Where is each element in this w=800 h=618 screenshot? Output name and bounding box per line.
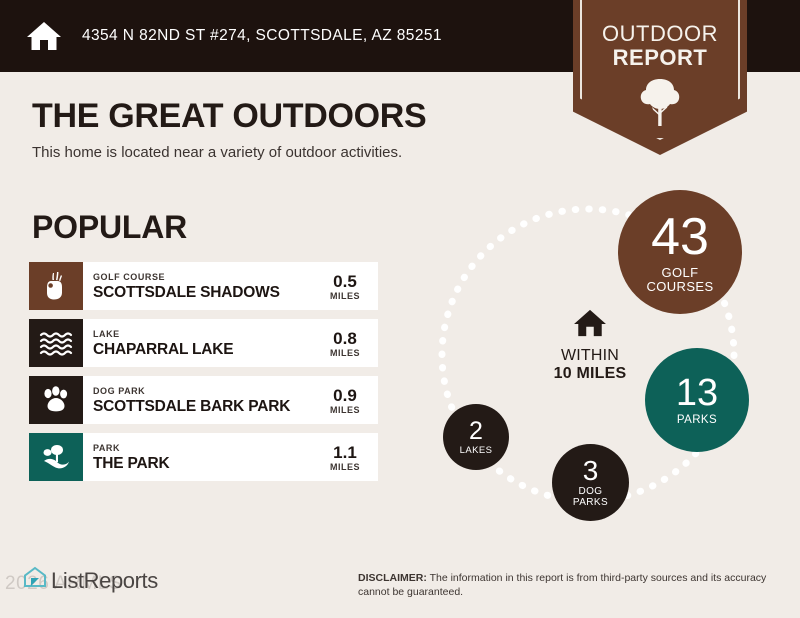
list-item-category: LAKE [93,328,316,340]
list-item[interactable]: GOLF COURSE SCOTTSDALE SHADOWS 0.5 MILES [29,262,378,310]
list-item[interactable]: LAKE CHAPARRAL LAKE 0.8 MILES [29,319,378,367]
list-item-category: PARK [93,442,316,454]
page-subtitle: This home is located near a variety of o… [32,144,402,161]
logo-text: ListReports [51,568,158,594]
page-title: THE GREAT OUTDOORS [32,97,426,136]
list-item-category: DOG PARK [93,385,316,397]
list-item-distance: 0.5 MILES [316,262,378,310]
bubble-count: 43 [651,211,709,263]
property-address: 4354 N 82ND ST #274, SCOTTSDALE, AZ 8525… [82,27,442,45]
list-item-text: LAKE CHAPARRAL LAKE [83,319,316,367]
distance-unit: MILES [330,462,360,472]
list-item-name: THE PARK [93,454,316,473]
tree-icon [573,76,747,133]
bubble-parks[interactable]: 13 PARKS [645,348,749,452]
list-item-distance: 1.1 MILES [316,433,378,481]
outdoor-report-badge: OUTDOOR REPORT [573,0,747,155]
list-item-text: DOG PARK SCOTTSDALE BARK PARK [83,376,316,424]
bubble-label-line-1: DOG [579,486,603,498]
list-item-category: GOLF COURSE [93,271,316,283]
bubble-label-line-2: PARKS [573,497,608,509]
listreports-logo[interactable]: ListReports [22,565,158,596]
paw-icon [29,376,83,424]
list-item[interactable]: DOG PARK SCOTTSDALE BARK PARK 0.9 MILES [29,376,378,424]
bubble-label-line-1: GOLF [662,266,699,280]
distance-value: 0.8 [333,329,357,348]
bubble-label-line-1: LAKES [460,445,493,456]
distance-value: 0.9 [333,386,357,405]
bubble-count: 13 [676,374,718,412]
distance-value: 1.1 [333,443,357,462]
home-icon [24,18,64,54]
badge-line-2: REPORT [573,45,747,71]
distance-unit: MILES [330,348,360,358]
bubble-count: 3 [583,457,599,485]
list-item-text: PARK THE PARK [83,433,316,481]
distance-value: 0.5 [333,272,357,291]
list-item-distance: 0.9 MILES [316,376,378,424]
list-item[interactable]: PARK THE PARK 1.1 MILES [29,433,378,481]
list-item-name: SCOTTSDALE BARK PARK [93,397,316,416]
park-tree-icon [29,433,83,481]
bubble-golf-courses[interactable]: 43 GOLF COURSES [618,190,742,314]
bubble-count: 2 [469,419,483,444]
badge-line-1: OUTDOOR [573,21,747,47]
bubble-label-line-1: PARKS [677,414,717,427]
popular-list: GOLF COURSE SCOTTSDALE SHADOWS 0.5 MILES [29,262,378,490]
list-item-name: SCOTTSDALE SHADOWS [93,283,316,302]
popular-heading: POPULAR [32,209,187,246]
disclaimer: DISCLAIMER: The information in this repo… [358,572,778,599]
bubble-dog-parks[interactable]: 3 DOG PARKS [552,444,629,521]
list-item-text: GOLF COURSE SCOTTSDALE SHADOWS [83,262,316,310]
center-label-line-1: WITHIN [530,347,650,365]
house-logo-icon [22,565,48,596]
distance-unit: MILES [330,291,360,301]
list-item-distance: 0.8 MILES [316,319,378,367]
disclaimer-label: DISCLAIMER: [358,572,427,584]
bubble-label-line-2: COURSES [646,280,713,294]
golf-bag-icon [29,262,83,310]
bubble-lakes[interactable]: 2 LAKES [443,404,509,470]
center-label-line-2: 10 MILES [530,365,650,383]
diagram-center: WITHIN 10 MILES [530,308,650,383]
outdoor-report-page: 4354 N 82ND ST #274, SCOTTSDALE, AZ 8525… [0,0,800,618]
list-item-name: CHAPARRAL LAKE [93,340,316,359]
distance-unit: MILES [330,405,360,415]
home-icon [530,308,650,343]
within-10-miles-diagram: 43 GOLF COURSES 13 PARKS 2 LAKES 3 DOG P… [400,170,800,550]
waves-icon [29,319,83,367]
